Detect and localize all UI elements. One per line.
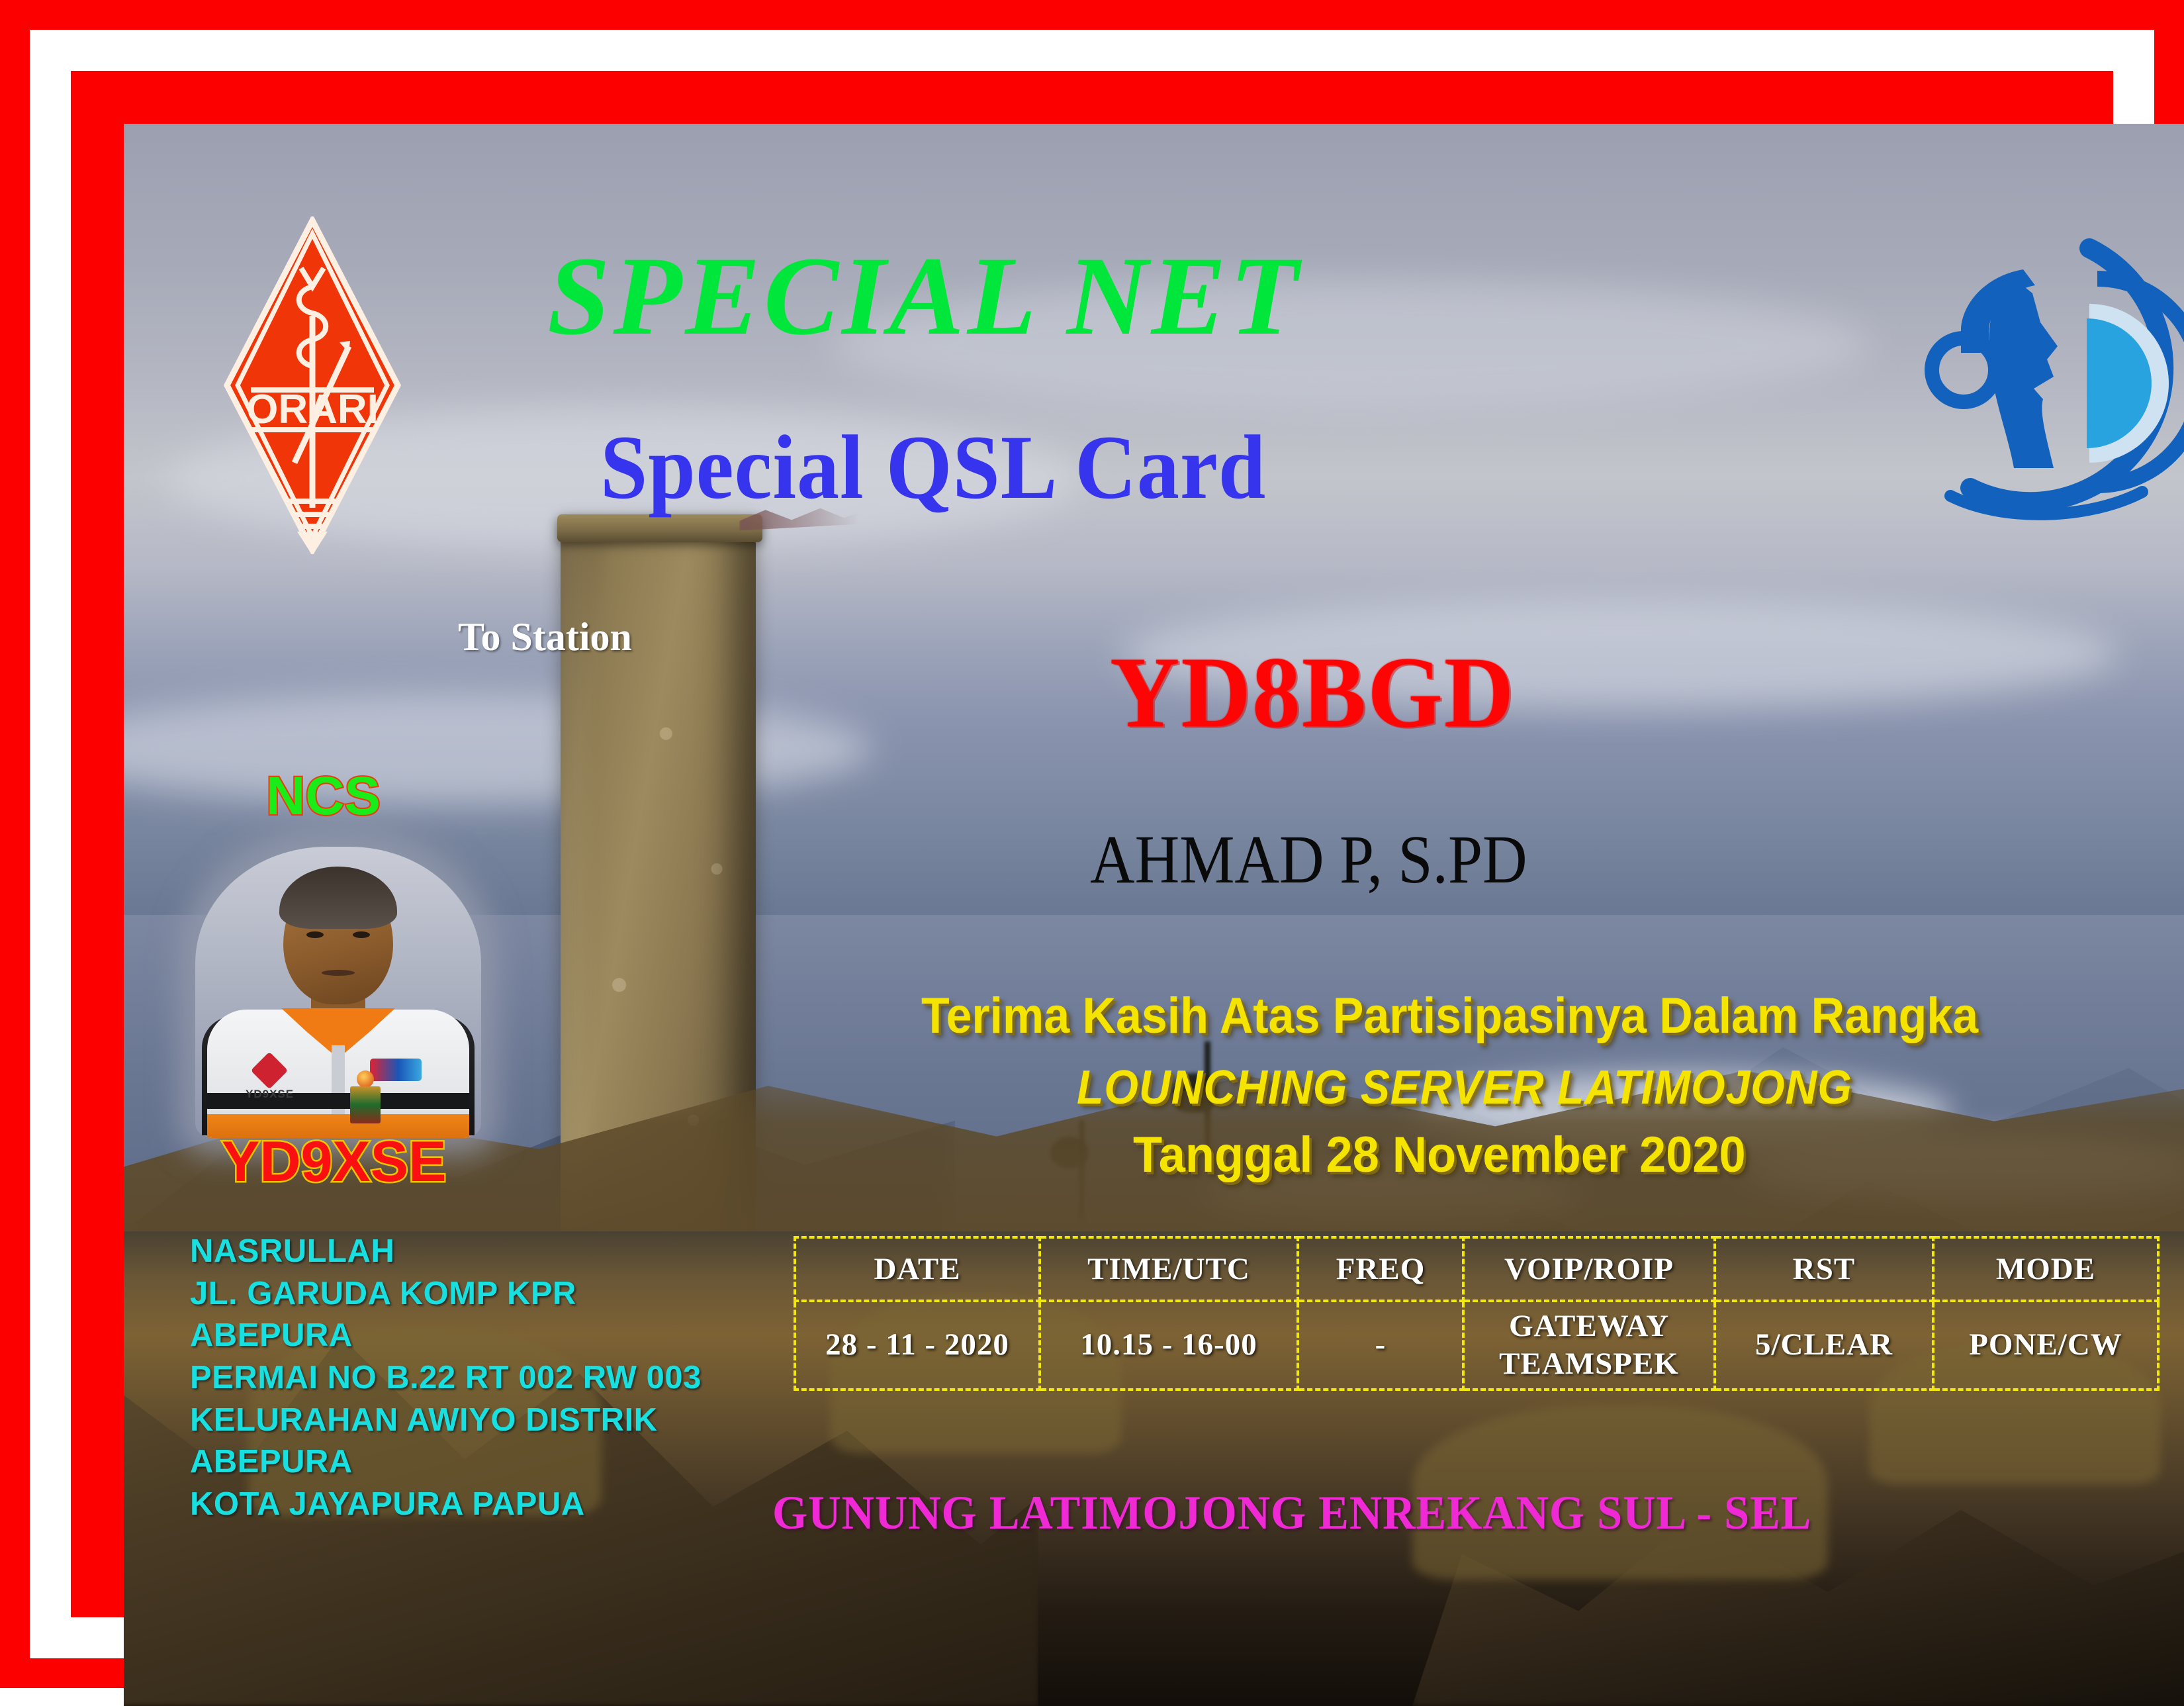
- pillar-cap: [557, 514, 762, 542]
- uniform-callsign-text: YD9XSE: [246, 1088, 294, 1101]
- address-line: ABEPURA: [190, 1441, 702, 1484]
- ncs-address-block: NASRULLAH JL. GARUDA KOMP KPR ABEPURA PE…: [190, 1231, 702, 1526]
- event-line: LOUNCHING SERVER LATIMOJONG: [1077, 1064, 1852, 1112]
- qso-log-table: DATE TIME/UTC FREQ VOIP/ROIP RST MODE 28…: [794, 1236, 2160, 1391]
- table-header-date: DATE: [795, 1237, 1040, 1301]
- eye-left: [306, 931, 324, 938]
- cell-date: 28 - 11 - 2020: [795, 1301, 1040, 1390]
- id-card: [350, 1086, 381, 1123]
- recipient-operator-name: AHMAD P, S.PD: [1090, 826, 1527, 894]
- table-header-voip: VOIP/ROIP: [1463, 1237, 1715, 1301]
- address-line: PERMAI NO B.22 RT 002 RW 003: [190, 1357, 702, 1399]
- orari-diamond-logo: ORARI: [223, 216, 402, 554]
- cell-voip-line2: TEAMSPEK: [1499, 1347, 1679, 1381]
- ncs-operator-photo: YD9XSE: [195, 847, 481, 1138]
- recipient-callsign: YD8BGD: [1110, 641, 1515, 743]
- ncs-role-label: NCS: [266, 769, 381, 824]
- uniform-badge-right: [370, 1059, 422, 1081]
- qsl-card-white-gap: ORARI: [30, 30, 2154, 1658]
- ncs-callsign: YD9XSE: [222, 1133, 446, 1190]
- cell-rst: 5/CLEAR: [1715, 1301, 1933, 1390]
- cell-mode: PONE/CW: [1933, 1301, 2158, 1390]
- table-row: 28 - 11 - 2020 10.15 - 16-00 - GATEWAY T…: [795, 1301, 2158, 1390]
- thanks-line: Terima Kasih Atas Partisipasinya Dalam R…: [921, 991, 1978, 1041]
- page-title: SPECIAL NET: [547, 240, 1302, 352]
- event-location-line: GUNUNG LATIMOJONG ENREKANG SUL - SEL: [772, 1489, 1811, 1537]
- address-line: NASRULLAH: [190, 1231, 702, 1273]
- cell-voip-line1: GATEWAY: [1509, 1309, 1669, 1343]
- cell-time: 10.15 - 16-00: [1040, 1301, 1298, 1390]
- qsl-card-outer-border: ORARI: [0, 0, 2184, 1688]
- eye-right: [353, 931, 370, 938]
- table-header-mode: MODE: [1933, 1237, 2158, 1301]
- headset-profile-logo: [1924, 230, 2184, 534]
- address-line: KOTA JAYAPURA PAPUA: [190, 1484, 702, 1526]
- table-header-row: DATE TIME/UTC FREQ VOIP/ROIP RST MODE: [795, 1237, 2158, 1301]
- cell-freq: -: [1298, 1301, 1463, 1390]
- address-line: KELURAHAN AWIYO DISTRIK: [190, 1399, 702, 1442]
- address-line: ABEPURA: [190, 1315, 702, 1357]
- table-header-freq: FREQ: [1298, 1237, 1463, 1301]
- to-station-label: To Station: [458, 617, 632, 657]
- event-date-line: Tanggal 28 November 2020: [1133, 1130, 1746, 1180]
- address-line: JL. GARUDA KOMP KPR: [190, 1273, 702, 1315]
- table-header-rst: RST: [1715, 1237, 1933, 1301]
- cell-voip: GATEWAY TEAMSPEK: [1463, 1301, 1715, 1390]
- mouth: [322, 970, 355, 976]
- orari-logo-text: ORARI: [246, 387, 379, 432]
- qsl-card-photo-plate: ORARI: [124, 124, 2184, 1706]
- page-subtitle: Special QSL Card: [600, 422, 1266, 513]
- table-header-time: TIME/UTC: [1040, 1237, 1298, 1301]
- id-card-clip: [357, 1070, 374, 1088]
- qsl-card-inner-red-border: ORARI: [71, 71, 2113, 1617]
